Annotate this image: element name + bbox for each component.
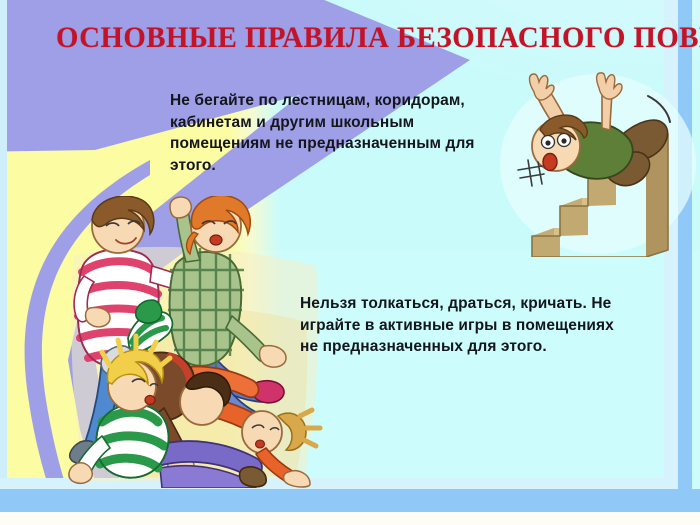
rule-text-roughhousing: Нельзя толкаться, драться, кричать. Не и… (300, 293, 630, 358)
page-title: ОСНОВНЫЕ ПРАВИЛА БЕЗОПАСНОГО ПОВЕДЕНИ (56, 21, 700, 55)
rule-text-stairs: Не бегайте по лестницам, коридорам, каби… (170, 90, 500, 176)
bottom-white-strip (0, 512, 700, 525)
left-edge-strip (0, 0, 7, 525)
slide-canvas: ОСНОВНЫЕ ПРАВИЛА БЕЗОПАСНОГО ПОВЕДЕНИ (0, 0, 700, 525)
falling-boy-stairs-illustration (498, 72, 698, 257)
bottom-border (0, 489, 700, 512)
children-roughhousing-illustration (66, 196, 326, 488)
